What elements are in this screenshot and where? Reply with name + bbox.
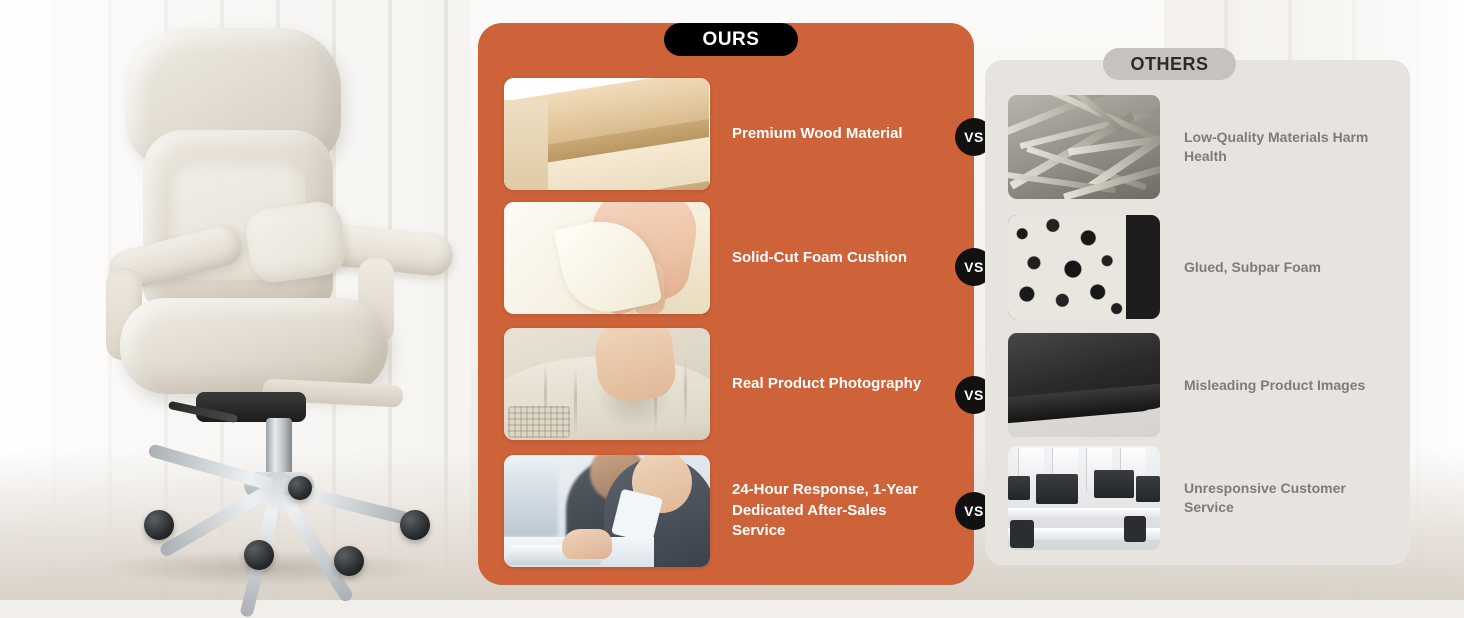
ours-thumbnail-premium-wood	[504, 78, 710, 190]
chair-caster-wheel	[244, 540, 274, 570]
ours-row-4: 24-Hour Response, 1-Year Dedicated After…	[504, 455, 954, 567]
ours-label-3: Real Product Photography	[732, 374, 921, 395]
chair-caster-wheel	[288, 476, 312, 500]
ours-row-3: Real Product Photography	[504, 328, 954, 440]
ours-row-2: Solid-Cut Foam Cushion	[504, 202, 954, 314]
chair-caster-wheel	[334, 546, 364, 576]
chair-lumbar-pillow	[243, 199, 348, 286]
others-thumbnail-misleading-images	[1008, 333, 1160, 437]
ours-label-1: Premium Wood Material	[732, 124, 903, 145]
others-row-4: Unresponsive Customer Service	[1008, 446, 1398, 550]
ours-label-2: Solid-Cut Foam Cushion	[732, 248, 907, 269]
scrap-wood-debris-photo	[1008, 95, 1160, 199]
ours-row-1: Premium Wood Material	[504, 78, 954, 190]
others-thumbnail-low-quality-materials	[1008, 95, 1160, 199]
others-thumbnail-glued-foam	[1008, 215, 1160, 319]
others-thumbnail-unresponsive-service	[1008, 446, 1160, 550]
ours-label-4: 24-Hour Response, 1-Year Dedicated After…	[732, 480, 942, 542]
stacked-wood-beams-photo	[504, 78, 710, 190]
chair-caster-wheel	[144, 510, 174, 540]
others-row-1: Low-Quality Materials Harm Health	[1008, 95, 1398, 199]
ours-badge: OURS	[664, 23, 798, 56]
others-label-4: Unresponsive Customer Service	[1184, 479, 1398, 517]
black-cushion-corner-photo	[1008, 333, 1160, 437]
chair-caster-wheel	[400, 510, 430, 540]
others-label-2: Glued, Subpar Foam	[1184, 258, 1321, 277]
ours-thumbnail-foam-cushion	[504, 202, 710, 314]
others-row-3: Misleading Product Images	[1008, 333, 1398, 437]
chair-seat-cushion	[120, 298, 388, 394]
hand-pressing-beige-cushion-photo	[504, 328, 710, 440]
ours-thumbnail-real-photography	[504, 328, 710, 440]
others-row-2: Glued, Subpar Foam	[1008, 215, 1398, 319]
empty-office-with-monitors-photo	[1008, 446, 1160, 550]
others-label-1: Low-Quality Materials Harm Health	[1184, 128, 1398, 166]
others-badge: OTHERS	[1103, 48, 1236, 80]
product-chair-image	[48, 10, 448, 580]
others-label-3: Misleading Product Images	[1184, 376, 1365, 395]
hand-peeling-foam-slab-photo	[504, 202, 710, 314]
ours-thumbnail-after-sales-service	[504, 455, 710, 567]
speckled-rebonded-foam-photo	[1008, 215, 1160, 319]
customer-service-agents-at-desks-photo	[504, 455, 710, 567]
